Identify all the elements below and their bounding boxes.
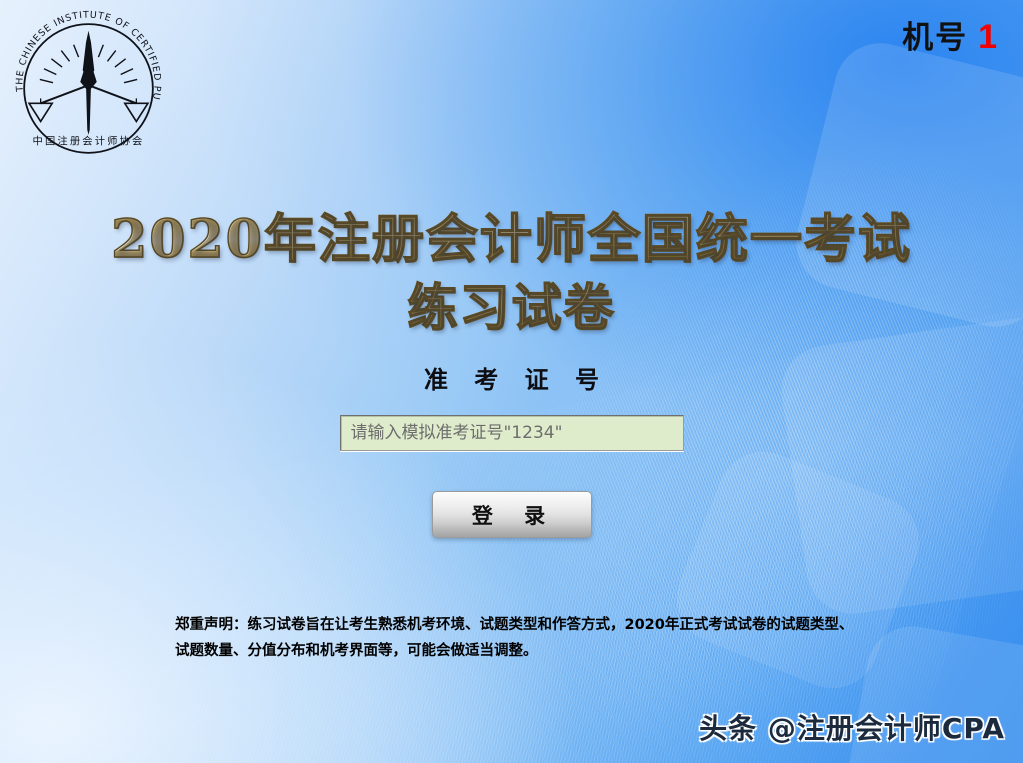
machine-number-label: 机号 — [902, 20, 968, 56]
ticket-number-label: 准 考 证 号 — [0, 360, 1023, 395]
machine-number-value: 1 — [978, 18, 999, 56]
page-title-line2: 练习试卷 — [0, 268, 1023, 340]
machine-number: 机号1 — [902, 12, 999, 57]
login-button[interactable]: 登 录 — [432, 491, 592, 538]
login-screen: THE CHINESE INSTITUTE OF CERTIFIED PUBLI… — [0, 0, 1023, 763]
cicpa-logo-icon: THE CHINESE INSTITUTE OF CERTIFIED PUBLI… — [6, 6, 171, 171]
notice-text: 郑重声明：练习试卷旨在让考生熟悉机考环境、试题类型和作答方式，2020年正式考试… — [175, 612, 865, 664]
page-title-text: 2020年注册会计师全国统一考试 — [111, 197, 912, 272]
ticket-number-input[interactable] — [340, 415, 684, 451]
watermark: 头条 @注册会计师CPA — [699, 707, 1005, 747]
page-title-line1: 2020年注册会计师全国统一考试 — [0, 197, 1023, 272]
page-subtitle-text: 练习试卷 — [408, 268, 616, 340]
svg-text:中国注册会计师协会: 中国注册会计师协会 — [33, 135, 145, 148]
login-form: 准 考 证 号 登 录 — [0, 360, 1023, 538]
